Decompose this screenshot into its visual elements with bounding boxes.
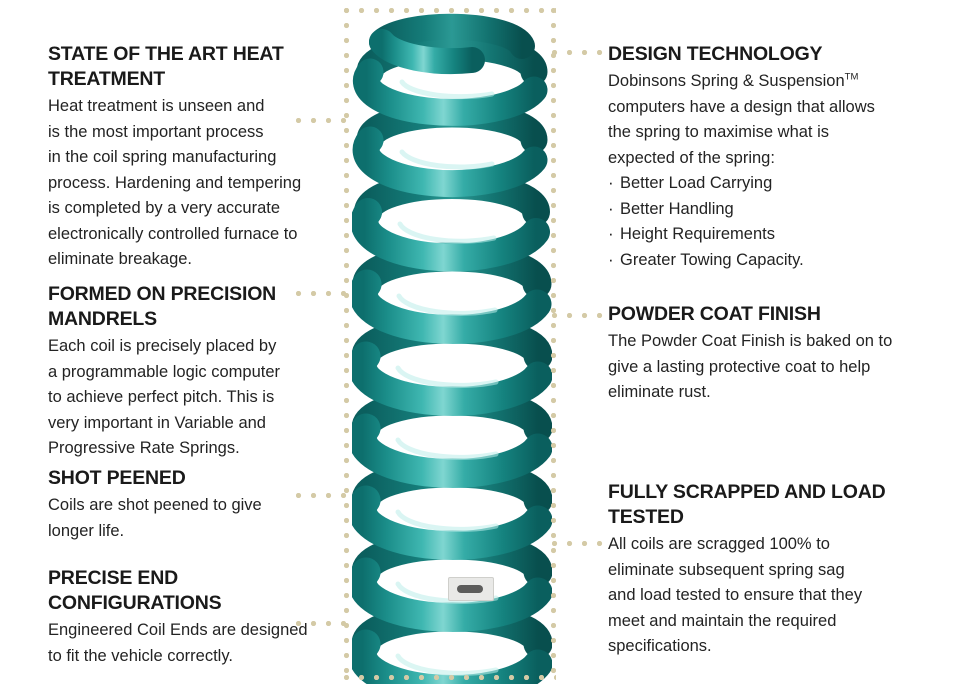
body-line: Heat treatment is unseen and: [48, 97, 264, 115]
connector-dots-heat-treatment: [296, 118, 348, 123]
infographic-page: STATE OF THE ART HEAT TREATMENT Heat tre…: [0, 0, 970, 694]
body-line: and load tested to ensure that they: [608, 586, 862, 604]
feature-block-design-technology: DESIGN TECHNOLOGY Dobinsons Spring & Sus…: [608, 42, 908, 273]
connector-dots-shot-peened: [296, 493, 348, 498]
feature-heading: PRECISE END CONFIGURATIONS: [48, 566, 338, 616]
body-line: in the coil spring manufacturing: [48, 148, 276, 166]
feature-block-formed-on-precision-mandrels: FORMED ON PRECISION MANDRELS Each coil i…: [48, 282, 338, 462]
feature-body: Dobinsons Spring & SuspensionTM computer…: [608, 69, 908, 171]
feature-block-powder-coat-finish: POWDER COAT FINISH The Powder Coat Finis…: [608, 302, 913, 406]
bullet-item: Better Load Carrying: [608, 171, 908, 197]
bullet-item: Better Handling: [608, 197, 908, 223]
body-line: expected of the spring:: [608, 149, 775, 167]
connector-dots-precision-mandrels: [296, 291, 348, 296]
body-line: is completed by a very accurate: [48, 199, 280, 217]
feature-body: The Powder Coat Finish is baked on to gi…: [608, 329, 913, 406]
design-technology-bullet-list: Better Load Carrying Better Handling Hei…: [608, 171, 908, 273]
body-line: give a lasting protective coat to help: [608, 358, 870, 376]
feature-heading: SHOT PEENED: [48, 466, 338, 491]
body-line: very important in Variable and: [48, 414, 266, 432]
body-line: Dobinsons Spring & Suspension: [608, 72, 845, 90]
body-line: Engineered Coil Ends are designed: [48, 621, 308, 639]
body-line: eliminate subsequent spring sag: [608, 561, 845, 579]
body-line: computers have a design that allows: [608, 98, 875, 116]
body-line: specifications.: [608, 637, 712, 655]
connector-dots-precise-end-configurations: [296, 621, 348, 626]
frame-top-edge: [344, 8, 556, 13]
frame-left-edge: [344, 8, 349, 680]
body-line: Each coil is precisely placed by: [48, 337, 276, 355]
bullet-item: Height Requirements: [608, 222, 908, 248]
bullet-item: Greater Towing Capacity.: [608, 248, 908, 274]
feature-body: All coils are scragged 100% to eliminate…: [608, 532, 913, 660]
trademark-symbol: TM: [845, 72, 859, 83]
frame-bottom-edge: [344, 675, 556, 680]
feature-block-fully-scrapped-and-load-tested: FULLY SCRAPPED AND LOAD TESTED All coils…: [608, 480, 913, 660]
body-line: eliminate breakage.: [48, 250, 192, 268]
body-line: eliminate rust.: [608, 383, 711, 401]
connector-dots-design-technology: [552, 50, 608, 55]
feature-block-state-of-the-art-heat-treatment: STATE OF THE ART HEAT TREATMENT Heat tre…: [48, 42, 338, 273]
body-line: the spring to maximise what is: [608, 123, 829, 141]
body-line: The Powder Coat Finish is baked on to: [608, 332, 892, 350]
dotted-frame: [344, 8, 556, 680]
feature-body: Heat treatment is unseen and is the most…: [48, 94, 338, 273]
body-line: meet and maintain the required: [608, 612, 836, 630]
body-line: to fit the vehicle correctly.: [48, 647, 233, 665]
body-line: process. Hardening and tempering: [48, 174, 301, 192]
connector-dots-fully-scrapped: [552, 541, 608, 546]
feature-heading: FULLY SCRAPPED AND LOAD TESTED: [608, 480, 913, 530]
feature-block-precise-end-configurations: PRECISE END CONFIGURATIONS Engineered Co…: [48, 566, 338, 669]
connector-dots-powder-coat-finish: [552, 313, 608, 318]
body-line: Coils are shot peened to give: [48, 496, 262, 514]
feature-heading: DESIGN TECHNOLOGY: [608, 42, 908, 67]
feature-body: Coils are shot peened to give longer lif…: [48, 493, 338, 544]
feature-body: Each coil is precisely placed by a progr…: [48, 334, 338, 462]
frame-right-edge: [551, 8, 556, 680]
feature-heading: POWDER COAT FINISH: [608, 302, 913, 327]
feature-block-shot-peened: SHOT PEENED Coils are shot peened to giv…: [48, 466, 338, 544]
body-line: to achieve perfect pitch. This is: [48, 388, 274, 406]
feature-heading: FORMED ON PRECISION MANDRELS: [48, 282, 338, 332]
body-line: a programmable logic computer: [48, 363, 280, 381]
body-line: longer life.: [48, 522, 124, 540]
feature-heading: STATE OF THE ART HEAT TREATMENT: [48, 42, 338, 92]
body-line: is the most important process: [48, 123, 264, 141]
body-line: electronically controlled furnace to: [48, 225, 297, 243]
feature-body: Engineered Coil Ends are designed to fit…: [48, 618, 338, 669]
body-line: Progressive Rate Springs.: [48, 439, 240, 457]
body-line: All coils are scragged 100% to: [608, 535, 830, 553]
